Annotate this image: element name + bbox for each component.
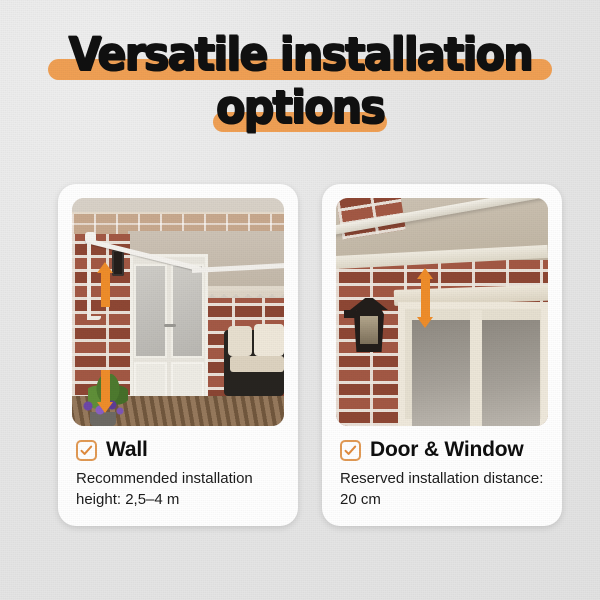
installation-option-card-door-window[interactable]: Door & Window Reserved installation dist… [322, 184, 562, 526]
downpipe [87, 242, 91, 320]
card-heading-row: Wall [76, 438, 282, 462]
card-heading-row: Door & Window [340, 438, 546, 462]
installation-height-arrow-head-up [97, 262, 113, 273]
card-caption-door-window: Door & Window Reserved installation dist… [336, 426, 548, 510]
wall-lamp [112, 250, 124, 276]
card-title: Door & Window [370, 438, 524, 462]
installation-height-arrow-lower [101, 370, 110, 402]
reserved-distance-arrow-head-up [417, 268, 433, 279]
installation-option-card-wall[interactable]: Wall Recommended installation height: 2,… [58, 184, 298, 526]
window-glass-left [412, 320, 470, 426]
page-title: Versatile installation options [0, 32, 600, 130]
card-caption-wall: Wall Recommended installation height: 2,… [72, 426, 284, 510]
headline-line-2-text: options [216, 85, 384, 130]
sofa-seat-cushion [230, 356, 284, 372]
checkbox-checked-icon[interactable] [76, 440, 97, 461]
headline-line-2: options [211, 85, 390, 130]
downpipe-foot [87, 316, 101, 320]
sofa-cushion-right [254, 324, 284, 356]
door-glass-left [134, 264, 167, 358]
card-description: Reserved installation distance: 20 cm [340, 469, 546, 510]
reserved-distance-arrow-head-down [417, 317, 433, 328]
headline-line-1: Versatile installation [54, 32, 547, 77]
checkbox-checked-icon[interactable] [340, 440, 361, 461]
headline-line-1-text: Versatile installation [68, 32, 531, 77]
installation-height-arrow [101, 273, 110, 307]
installation-height-arrow-head-down [97, 402, 113, 413]
window-glass-right [482, 320, 540, 426]
awning-above-door-and-window-photo [336, 198, 548, 426]
door-glass-right [171, 264, 204, 358]
window-mullion [470, 310, 482, 426]
reserved-distance-arrow [421, 278, 430, 318]
sofa-cushion-left [228, 326, 252, 356]
installation-options-list: Wall Recommended installation height: 2,… [58, 184, 562, 526]
door-handle [164, 324, 176, 327]
patio-awning-on-brick-wall-photo [72, 198, 284, 426]
card-description: Recommended installation height: 2,5–4 m [76, 469, 282, 510]
infographic-canvas: Versatile installation options [0, 0, 600, 600]
lantern-glass [360, 316, 378, 344]
card-title: Wall [106, 438, 148, 462]
